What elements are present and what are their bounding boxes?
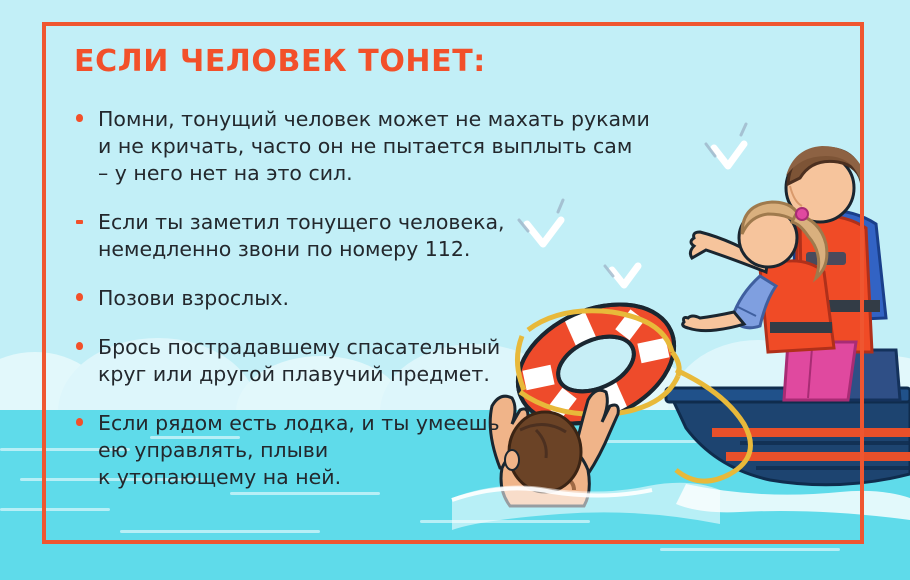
- seagull-icon: [714, 144, 744, 166]
- tip-line: Помни, тонущий человек может не махать р…: [98, 106, 674, 133]
- bullet-dot-icon: [76, 293, 83, 301]
- tip-line: – у него нет на это сил.: [98, 160, 674, 187]
- page-title: ЕСЛИ ЧЕЛОВЕК ТОНЕТ:: [74, 44, 486, 79]
- reaching-hand: [683, 312, 744, 331]
- tip-line: немедленно звони по номеру 112.: [98, 236, 674, 263]
- bullet-dot-icon: [76, 114, 83, 122]
- hair-tie: [796, 208, 808, 220]
- bullet-dot-icon: [76, 342, 83, 350]
- tip-line: Позови взрослых.: [98, 285, 674, 312]
- drowning-safety-poster: ЕСЛИ ЧЕЛОВЕК ТОНЕТ: Помни, тонущий челов…: [0, 0, 910, 580]
- bullet-dash-icon: [76, 220, 83, 224]
- tip-line: круг или другой плавучий предмет.: [98, 361, 674, 388]
- list-item: Брось пострадавшему спасательный круг ил…: [74, 334, 674, 388]
- tip-line: и не кричать, часто он не пытается выплы…: [98, 133, 674, 160]
- list-item: Если рядом есть лодка, и ты умеешь ею уп…: [74, 410, 674, 491]
- list-item: Позови взрослых.: [74, 285, 674, 312]
- tip-line: Брось пострадавшему спасательный: [98, 334, 674, 361]
- tips-list: Помни, тонущий человек может не махать р…: [74, 106, 674, 513]
- tip-line: Если ты заметил тонущего человека,: [98, 209, 674, 236]
- tip-line: Если рядом есть лодка, и ты умеешь: [98, 410, 674, 437]
- list-item: Если ты заметил тонущего человека, немед…: [74, 209, 674, 263]
- tip-line: ею управлять, плыви: [98, 437, 674, 464]
- tip-line: к утопающему на ней.: [98, 464, 674, 491]
- vest-belt: [770, 322, 832, 333]
- list-item: Помни, тонущий человек может не махать р…: [74, 106, 674, 187]
- bullet-dot-icon: [76, 418, 83, 426]
